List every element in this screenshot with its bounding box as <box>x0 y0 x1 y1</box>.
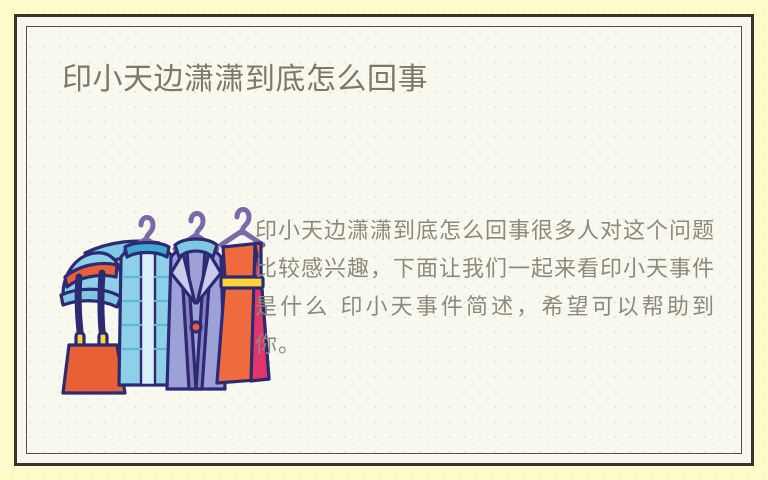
sun-hat-brim <box>61 289 121 307</box>
long-coat-button <box>191 322 201 332</box>
clothes-rack-illustration <box>55 203 285 403</box>
handbag-icon <box>63 345 125 393</box>
page-title: 印小天边潇潇到底怎么回事 <box>62 63 428 97</box>
content-row: 印小天边潇潇到底怎么回事很多人对这个问题比较感兴趣，下面让我们一起来看印小天事件… <box>27 185 741 435</box>
poster-canvas: 印小天边潇潇到底怎么回事 <box>0 0 768 480</box>
outer-frame: 印小天边潇潇到底怎么回事 <box>14 14 754 466</box>
article-body: 印小天边潇潇到底怎么回事很多人对这个问题比较感兴趣，下面让我们一起来看印小天事件… <box>255 213 715 365</box>
inner-frame: 印小天边潇潇到底怎么回事 <box>26 26 742 454</box>
puffer-jacket-placket <box>141 251 155 385</box>
